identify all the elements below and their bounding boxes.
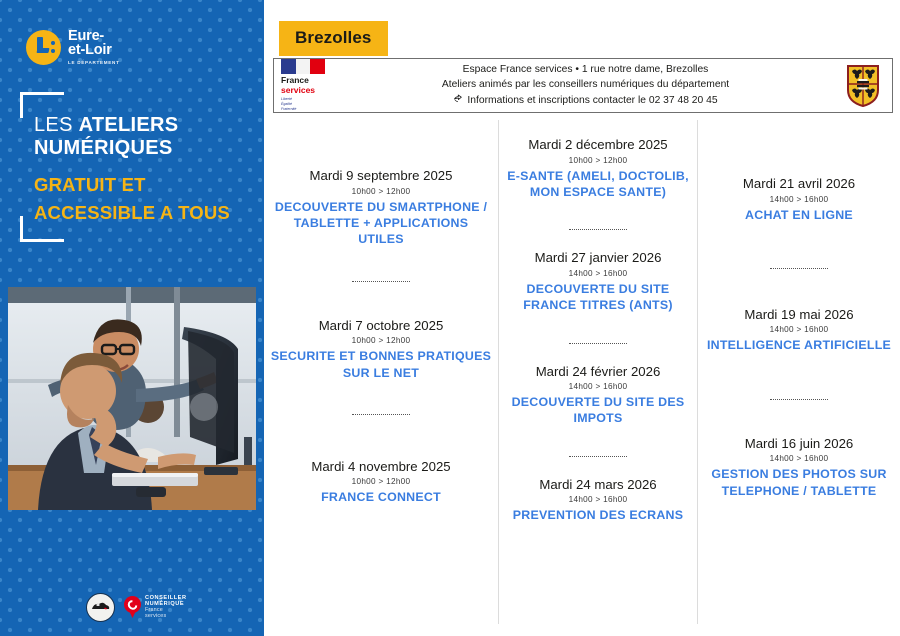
department-logo: Eure- et-Loir LE DÉPARTEMENT [26, 29, 120, 65]
workshop-photo [8, 287, 256, 510]
eure-et-loir-logo-mark-icon [26, 30, 61, 65]
motto-fraternite: Fraternité [281, 107, 332, 112]
event-title: E-SANTE (AMELI, DOCTOLIB, MON ESPACE SAN… [505, 168, 691, 201]
department-tagline: LE DÉPARTEMENT [68, 60, 120, 65]
event-title: FRANCE CONNECT [270, 489, 492, 505]
event-separator [698, 261, 900, 271]
event-time: 14h00 > 16h00 [505, 269, 691, 278]
info-line-contact: Informations et inscriptions contacter l… [467, 95, 717, 106]
page-subtitle-line1: GRATUIT ET [34, 174, 146, 196]
info-bar: France services Liberté Égalité Fraterni… [273, 58, 893, 113]
event-time: 14h00 > 16h00 [704, 325, 894, 334]
event-date: Mardi 21 avril 2026 [704, 176, 894, 193]
event-separator [499, 222, 697, 232]
event-time: 14h00 > 16h00 [505, 382, 691, 391]
pointing-hand-icon [453, 93, 464, 110]
event-title: DECOUVERTE DU SITE DES IMPOTS [505, 394, 691, 427]
event-date: Mardi 27 janvier 2026 [505, 250, 691, 267]
event-time: 14h00 > 16h00 [505, 495, 691, 504]
info-line-contact-row: Informations et inscriptions contacter l… [338, 93, 833, 110]
event-item: Mardi 19 mai 2026 14h00 > 16h00 INTELLIG… [698, 307, 900, 354]
event-item: Mardi 2 décembre 2025 10h00 > 12h00 E-SA… [499, 137, 697, 200]
cn-line4: services [145, 614, 187, 620]
event-item: Mardi 9 septembre 2025 10h00 > 12h00 DEC… [264, 168, 498, 248]
event-separator [698, 392, 900, 402]
france-cow-badge-icon [86, 593, 115, 622]
event-title: GESTION DES PHOTOS SUR TELEPHONE / TABLE… [704, 466, 894, 499]
event-time: 10h00 > 12h00 [505, 156, 691, 165]
bracket-bottom-icon [20, 239, 64, 242]
department-name-line1: Eure- [68, 29, 120, 43]
bracket-bottom-left-icon [20, 216, 23, 242]
event-date: Mardi 24 mars 2026 [505, 477, 691, 494]
france-services-line1: France [281, 75, 332, 85]
event-time: 10h00 > 12h00 [270, 187, 492, 196]
eure-et-loir-coat-of-arms-icon [839, 64, 887, 108]
page-title-line1: LES ATELIERS [34, 114, 178, 137]
event-date: Mardi 24 février 2026 [505, 364, 691, 381]
event-item: Mardi 4 novembre 2025 10h00 > 12h00 FRAN… [264, 459, 498, 506]
event-title: SECURITE ET BONNES PRATIQUES SUR LE NET [270, 348, 492, 381]
event-title: DECOUVERTE DU SITE FRANCE TITRES (ANTS) [505, 281, 691, 314]
title-les: LES [34, 114, 79, 136]
bracket-top-icon [20, 92, 64, 95]
info-line-address: Espace France services • 1 rue notre dam… [338, 62, 833, 78]
event-date: Mardi 9 septembre 2025 [270, 168, 492, 185]
event-time: 10h00 > 12h00 [270, 477, 492, 486]
event-title: PREVENTION DES ECRANS [505, 507, 691, 523]
poster-page: Eure- et-Loir LE DÉPARTEMENT LES ATELIER… [0, 0, 900, 636]
schedule-column-2: Mardi 2 décembre 2025 10h00 > 12h00 E-SA… [498, 120, 698, 624]
event-title: ACHAT EN LIGNE [704, 207, 894, 223]
event-item: Mardi 7 octobre 2025 10h00 > 12h00 SECUR… [264, 318, 498, 381]
page-title-line2: NUMÉRIQUES [34, 137, 173, 160]
main-content: Brezolles France services Liberté Égalit… [264, 0, 900, 636]
event-separator [499, 449, 697, 459]
conseiller-numerique-logo: CONSEILLER NUMÉRIQUE France services [124, 595, 187, 619]
event-time: 14h00 > 16h00 [704, 454, 894, 463]
event-date: Mardi 4 novembre 2025 [270, 459, 492, 476]
french-flag-icon [281, 59, 325, 74]
event-date: Mardi 19 mai 2026 [704, 307, 894, 324]
conseiller-numerique-pin-icon [124, 596, 141, 619]
event-separator [499, 336, 697, 346]
republic-motto: Liberté Égalité Fraternité [281, 97, 332, 112]
event-time: 10h00 > 12h00 [270, 336, 492, 345]
event-item: Mardi 24 mars 2026 14h00 > 16h00 PREVENT… [499, 477, 697, 524]
info-bar-text: Espace France services • 1 rue notre dam… [332, 62, 839, 110]
city-tag: Brezolles [279, 21, 388, 56]
event-date: Mardi 2 décembre 2025 [505, 137, 691, 154]
page-subtitle-line2: ACCESSIBLE A TOUS [34, 202, 230, 224]
france-services-line2: services [281, 85, 332, 95]
event-item: Mardi 21 avril 2026 14h00 > 16h00 ACHAT … [698, 176, 900, 223]
event-item: Mardi 16 juin 2026 14h00 > 16h00 GESTION… [698, 436, 900, 499]
schedule-column-3: Mardi 21 avril 2026 14h00 > 16h00 ACHAT … [698, 120, 900, 624]
bottom-logos: CONSEILLER NUMÉRIQUE France services [86, 593, 187, 622]
event-date: Mardi 7 octobre 2025 [270, 318, 492, 335]
info-line-animators: Ateliers animés par les conseillers numé… [338, 77, 833, 93]
schedule-column-1: Mardi 9 septembre 2025 10h00 > 12h00 DEC… [264, 120, 498, 624]
bracket-top-left-icon [20, 92, 23, 118]
left-blue-panel: Eure- et-Loir LE DÉPARTEMENT LES ATELIER… [0, 0, 264, 636]
event-item: Mardi 24 février 2026 14h00 > 16h00 DECO… [499, 364, 697, 427]
event-time: 14h00 > 16h00 [704, 195, 894, 204]
poster-title-block: LES ATELIERS NUMÉRIQUES GRATUIT ET ACCES… [20, 92, 250, 242]
event-title: DECOUVERTE DU SMARTPHONE / TABLETTE + AP… [270, 199, 492, 248]
department-name-line2: et-Loir [68, 43, 120, 57]
event-separator [264, 274, 498, 284]
event-date: Mardi 16 juin 2026 [704, 436, 894, 453]
event-title: INTELLIGENCE ARTIFICIELLE [704, 337, 894, 353]
event-item: Mardi 27 janvier 2026 14h00 > 16h00 DECO… [499, 250, 697, 313]
title-ateliers: ATELIERS [79, 114, 179, 136]
france-services-logo: France services Liberté Égalité Fraterni… [278, 59, 332, 111]
event-separator [264, 407, 498, 417]
schedule-columns: Mardi 9 septembre 2025 10h00 > 12h00 DEC… [264, 120, 900, 624]
